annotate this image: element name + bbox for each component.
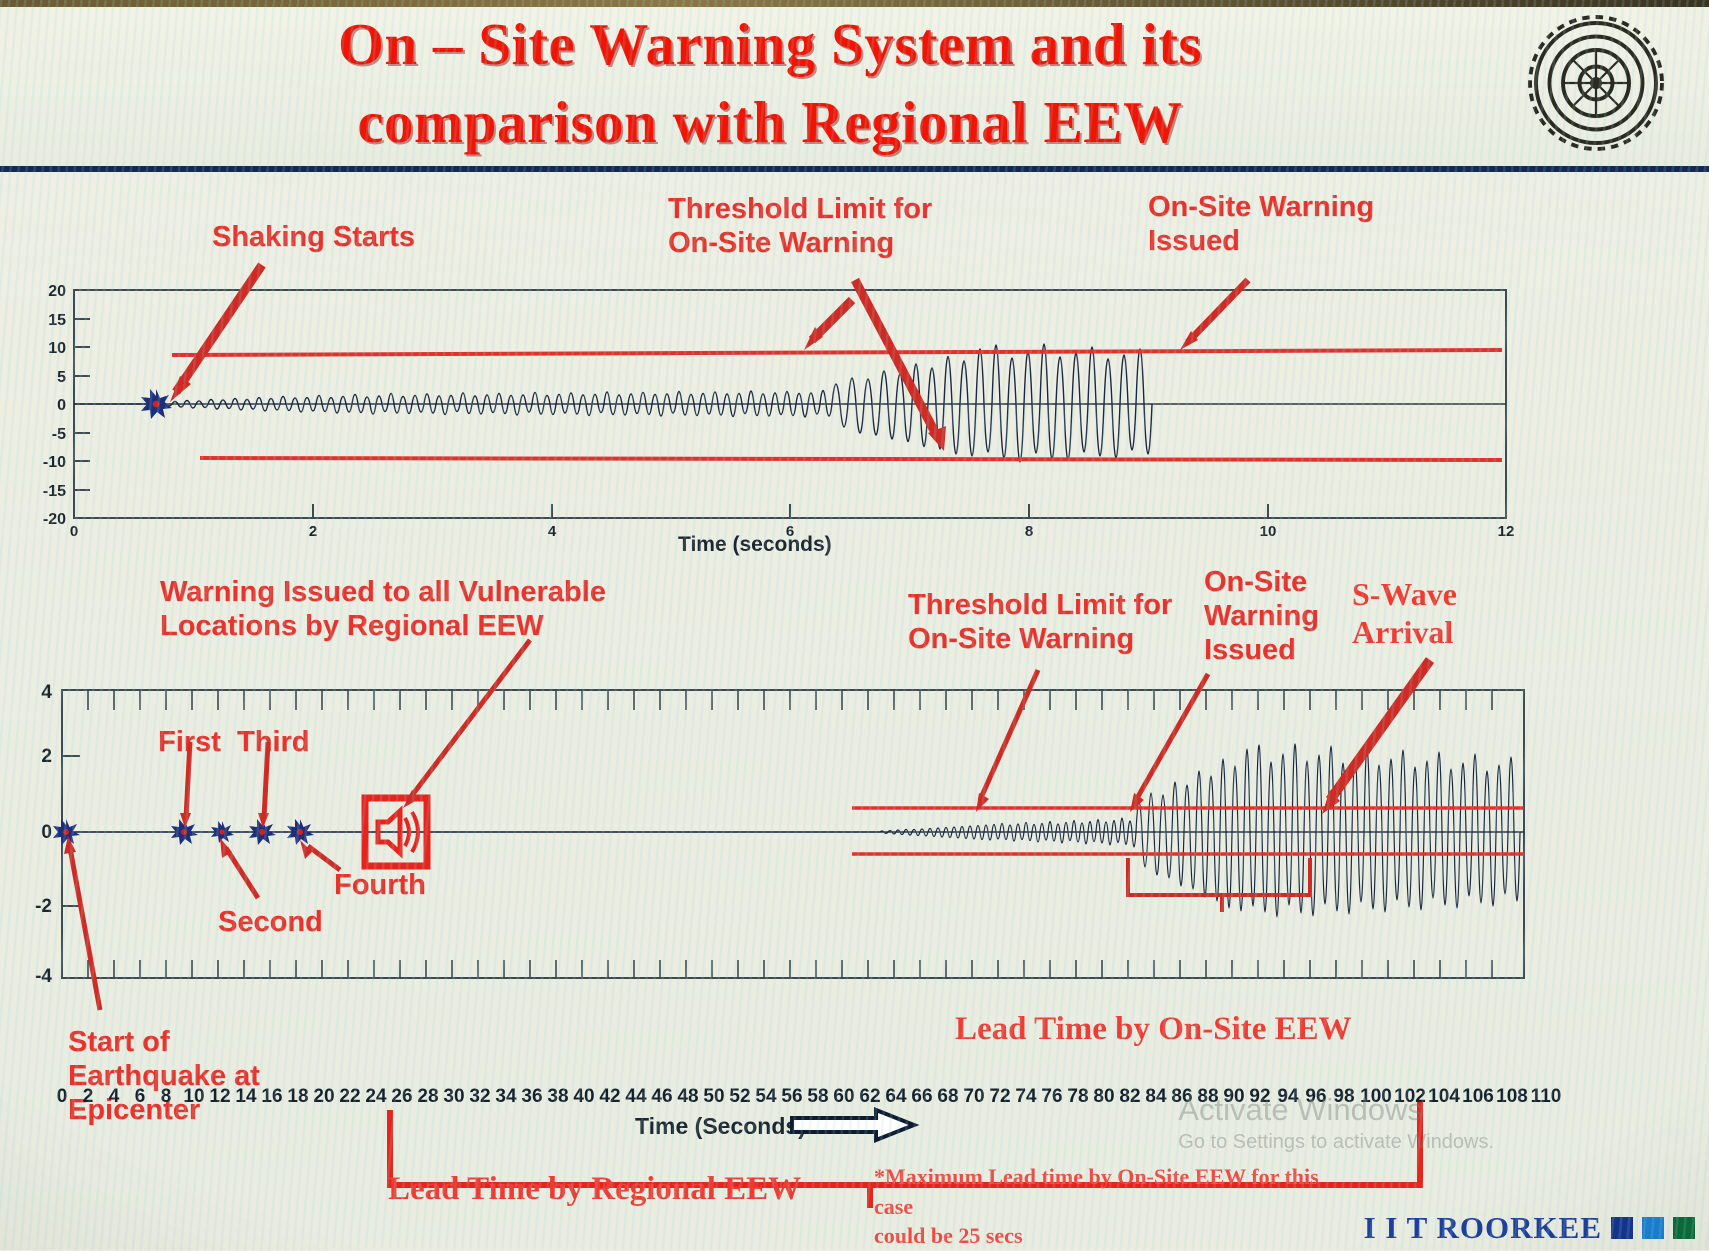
annotation-onsite-warning-issued-bottom: On-Site Warning Issued bbox=[1204, 565, 1319, 668]
top-chart-xlabel: Time (seconds) bbox=[678, 533, 832, 557]
svg-text:-5: -5 bbox=[52, 426, 66, 443]
svg-text:10: 10 bbox=[1260, 523, 1277, 540]
svg-text:4: 4 bbox=[548, 523, 557, 540]
annotation-lead-time-onsite: Lead Time by On-Site EEW bbox=[955, 1010, 1352, 1050]
top-accelerogram-chart: 20 15 10 5 0 -5 -10 -15 -20 bbox=[0, 170, 1709, 560]
bottom-annotation-arrows bbox=[64, 640, 1430, 1010]
brand-square-1 bbox=[1611, 1217, 1633, 1239]
watermark-line1: Activate Windows bbox=[1178, 1091, 1494, 1130]
top-y-axis: 20 15 10 5 0 -5 -10 -15 -20 bbox=[43, 283, 90, 528]
iit-roorkee-logo bbox=[1521, 8, 1671, 158]
annotation-s-wave-arrival: S-Wave Arrival bbox=[1352, 575, 1457, 652]
annotation-lead-time-regional: Lead Time by Regional EEW bbox=[388, 1170, 801, 1210]
svg-text:-4: -4 bbox=[35, 966, 52, 987]
svg-text:0: 0 bbox=[41, 822, 52, 843]
svg-text:0: 0 bbox=[70, 523, 78, 540]
watermark-line2: Go to Settings to activate Windows. bbox=[1178, 1130, 1494, 1155]
bottom-top-ruler bbox=[88, 690, 1492, 710]
annotation-regional-warning: Warning Issued to all Vulnerable Locatio… bbox=[160, 575, 606, 643]
svg-text:5: 5 bbox=[57, 369, 66, 386]
brand-text: I I T ROORKEE bbox=[1364, 1210, 1602, 1246]
svg-text:20: 20 bbox=[48, 283, 66, 300]
page-title-line2: comparison with Regional EEW bbox=[150, 84, 1390, 162]
top-annotation-arrows bbox=[170, 265, 1248, 451]
svg-text:4: 4 bbox=[41, 682, 52, 703]
page-title: On – Site Warning System and its compari… bbox=[150, 6, 1390, 162]
brand-square-2 bbox=[1642, 1217, 1664, 1239]
annotation-threshold-limit-bottom: Threshold Limit for On-Site Warning bbox=[908, 588, 1172, 656]
slide-root: On – Site Warning System and its compari… bbox=[0, 0, 1709, 1250]
iit-roorkee-branding: I I T ROORKEE bbox=[1364, 1210, 1695, 1246]
svg-text:2: 2 bbox=[41, 746, 52, 767]
top-threshold-upper bbox=[172, 350, 1502, 355]
svg-text:10: 10 bbox=[48, 340, 66, 357]
bottom-timeline-chart: 4 2 0 -2 -4 bbox=[0, 680, 1709, 1100]
svg-text:-2: -2 bbox=[35, 896, 52, 917]
bottom-bottom-ruler bbox=[88, 960, 1492, 978]
page-title-line1: On – Site Warning System and its bbox=[150, 6, 1390, 84]
iit-roorkee-emblem-icon bbox=[1521, 8, 1671, 158]
svg-text:-15: -15 bbox=[43, 483, 66, 500]
svg-text:0: 0 bbox=[57, 397, 66, 414]
top-threshold-lower bbox=[200, 458, 1502, 460]
svg-text:15: 15 bbox=[48, 312, 66, 329]
bottom-waveform bbox=[62, 744, 1520, 917]
slide-header: On – Site Warning System and its compari… bbox=[0, 0, 1709, 172]
top-waveform bbox=[74, 344, 1152, 462]
svg-text:-20: -20 bbox=[43, 511, 66, 528]
svg-text:8: 8 bbox=[1025, 523, 1033, 540]
annotation-footnote: *Maximum Lead time by On-Site EEW for th… bbox=[874, 1162, 1344, 1251]
svg-text:-10: -10 bbox=[43, 454, 66, 471]
windows-activation-watermark: Activate Windows Go to Settings to activ… bbox=[1178, 1091, 1494, 1155]
bottom-plot-frame bbox=[62, 690, 1524, 978]
svg-text:12: 12 bbox=[1498, 523, 1515, 540]
brand-square-3 bbox=[1673, 1217, 1695, 1239]
svg-text:2: 2 bbox=[309, 523, 317, 540]
